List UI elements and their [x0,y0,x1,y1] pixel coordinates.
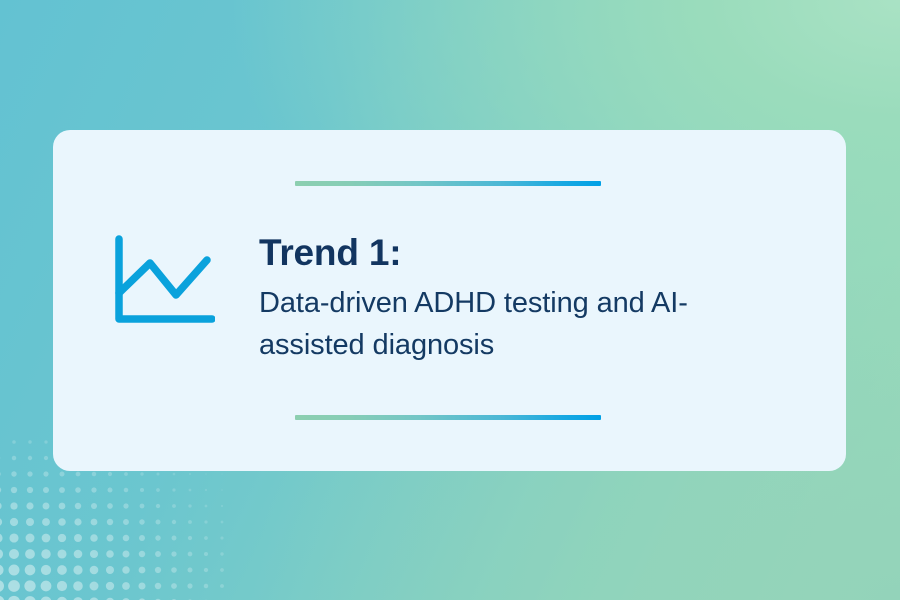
text-container: Trend 1: Data-driven ADHD testing and AI… [223,233,846,366]
trend-headline: Trend 1: [259,233,846,273]
divider-bottom [295,415,601,420]
line-chart-icon [111,233,215,325]
trend-subhead: Data-driven ADHD testing and AI-assisted… [259,282,779,366]
card-body-row: Trend 1: Data-driven ADHD testing and AI… [53,233,846,366]
icon-container [111,233,223,325]
divider-top [295,181,601,186]
content-card: Trend 1: Data-driven ADHD testing and AI… [53,130,846,471]
slide-canvas: Trend 1: Data-driven ADHD testing and AI… [0,0,900,600]
